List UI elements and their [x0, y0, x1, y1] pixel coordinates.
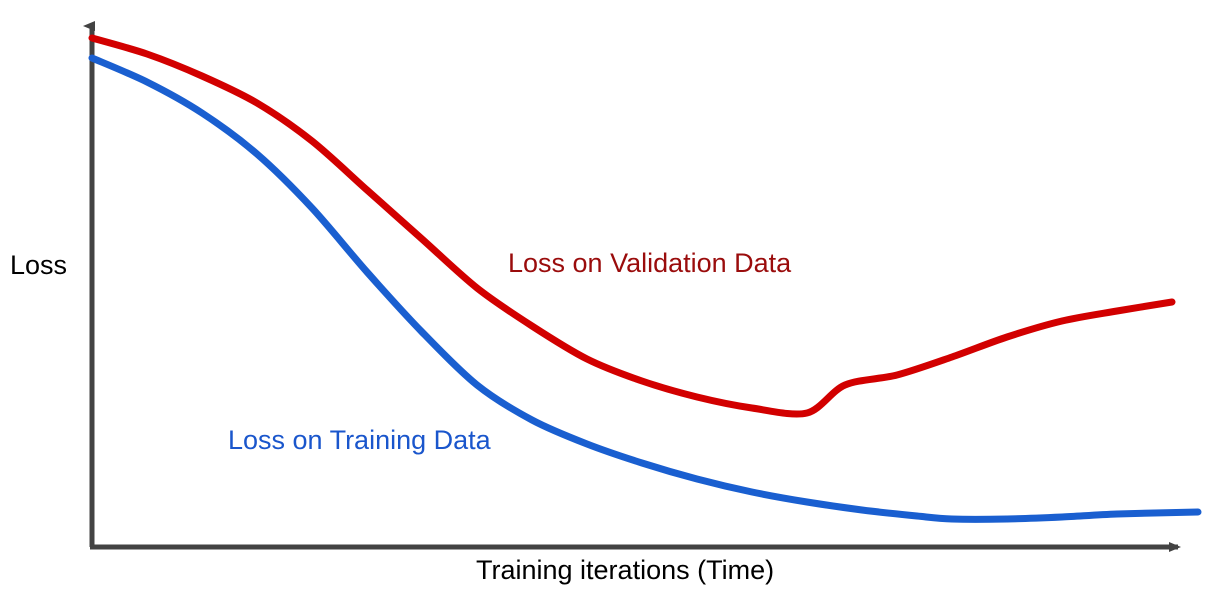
training-series-label: Loss on Training Data [228, 427, 491, 454]
x-axis-label: Training iterations (Time) [476, 557, 774, 584]
y-axis-label: Loss [10, 252, 67, 279]
chart-plot-area [0, 0, 1206, 591]
chart-figure: Loss Training iterations (Time) Loss on … [0, 0, 1206, 591]
validation-series-label: Loss on Validation Data [508, 250, 791, 277]
validation-loss-curve [92, 38, 1172, 414]
